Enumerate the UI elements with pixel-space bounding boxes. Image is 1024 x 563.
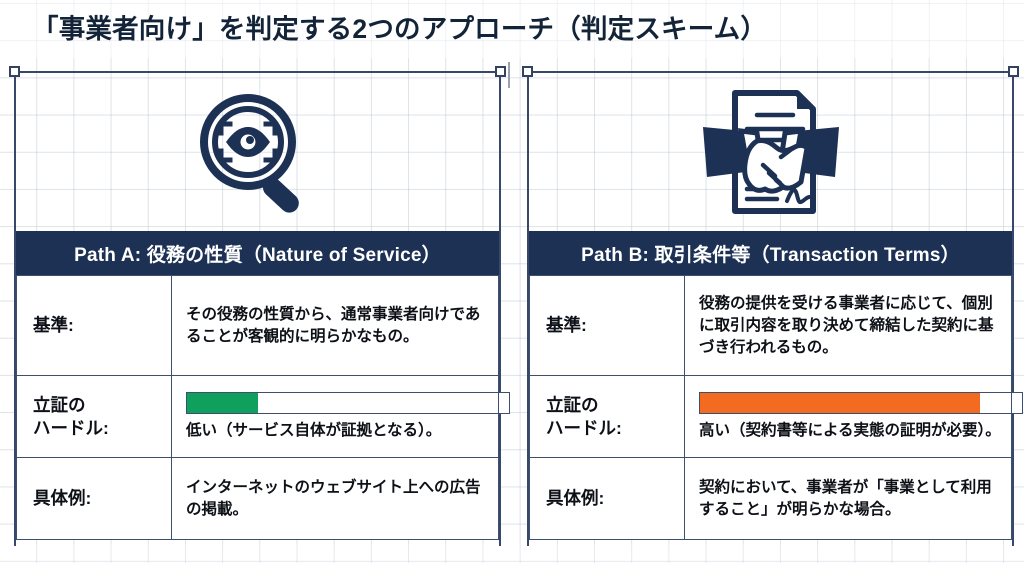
path-b-icon-area — [527, 73, 1014, 231]
contract-handshake-icon — [701, 85, 841, 219]
path-a-icon-area — [14, 73, 501, 231]
table-row: 具体例: インターネットのウェブサイト上への広告の掲載。 — [17, 458, 499, 540]
row-label: 具体例: — [530, 458, 685, 540]
path-b-table: 基準: 役務の提供を受ける事業者に応じて、個別に取引内容を取り決めて締結した契約… — [529, 275, 1012, 540]
evidence-hurdle-caption: 低い（サービス自体が証拠となる）。 — [186, 421, 490, 442]
panel-path-b: Path B: 取引条件等（Transaction Terms） 基準: 役務の… — [527, 71, 1014, 546]
evidence-hurdle-bar — [699, 392, 1023, 414]
page-title: 「事業者向け」を判定する2つのアプローチ（判定スキーム） — [32, 14, 992, 46]
table-row: 基準: 役務の提供を受ける事業者に応じて、個別に取引内容を取り決めて締結した契約… — [530, 276, 1012, 376]
row-value: その役務の性質から、通常事業者向けであることが客観的に明らかなもの。 — [172, 276, 499, 376]
path-a-header: Path A: 役務の性質（Nature of Service） — [16, 231, 499, 275]
panel-path-a: Path A: 役務の性質（Nature of Service） 基準: その役… — [14, 71, 501, 546]
table-row: 立証のハードル: 低い（サービス自体が証拠となる）。 — [17, 376, 499, 458]
table-row: 基準: その役務の性質から、通常事業者向けであることが客観的に明らかなもの。 — [17, 276, 499, 376]
magnifier-eye-icon — [194, 88, 322, 216]
row-label: 立証のハードル: — [530, 376, 685, 458]
row-value: 役務の提供を受ける事業者に応じて、個別に取引内容を取り決めて締結した契約に基づき… — [685, 276, 1012, 376]
table-row: 立証のハードル: 高い（契約書等による実態の証明が必要）。 — [530, 376, 1012, 458]
row-value: 低い（サービス自体が証拠となる）。 — [172, 376, 499, 458]
evidence-hurdle-bar — [186, 392, 510, 414]
row-value: 契約において、事業者が「事業として利用すること」が明らかな場合。 — [685, 458, 1012, 540]
row-label: 基準: — [17, 276, 172, 376]
row-label: 基準: — [530, 276, 685, 376]
table-row: 具体例: 契約において、事業者が「事業として利用すること」が明らかな場合。 — [530, 458, 1012, 540]
path-a-table: 基準: その役務の性質から、通常事業者向けであることが客観的に明らかなもの。 立… — [16, 275, 499, 540]
evidence-hurdle-bar-fill — [187, 393, 258, 413]
row-label: 立証のハードル: — [17, 376, 172, 458]
row-value: インターネットのウェブサイト上への広告の掲載。 — [172, 458, 499, 540]
center-page-guide — [508, 62, 510, 88]
path-b-header: Path B: 取引条件等（Transaction Terms） — [529, 231, 1012, 275]
row-label: 具体例: — [17, 458, 172, 540]
row-value: 高い（契約書等による実態の証明が必要）。 — [685, 376, 1012, 458]
evidence-hurdle-caption: 高い（契約書等による実態の証明が必要）。 — [699, 421, 1003, 442]
evidence-hurdle-bar-fill — [700, 393, 980, 413]
